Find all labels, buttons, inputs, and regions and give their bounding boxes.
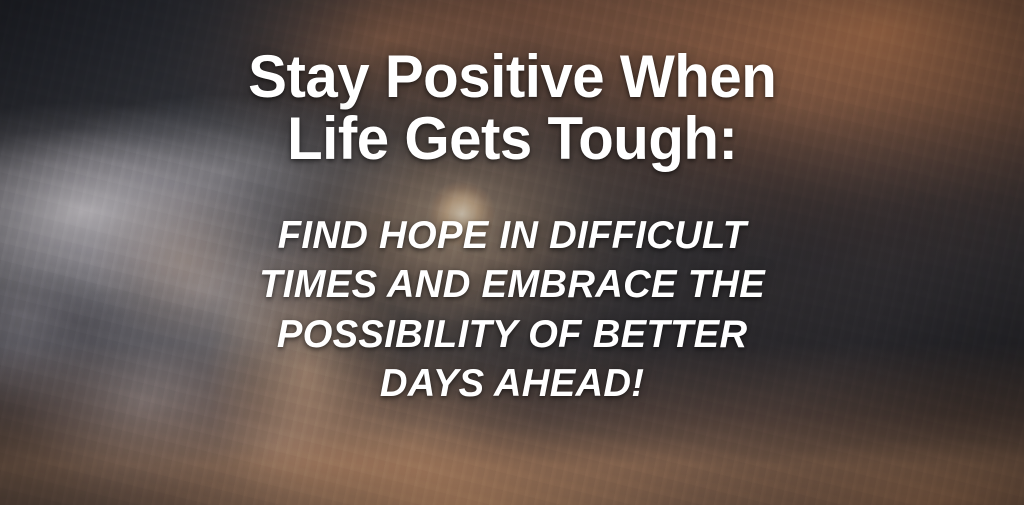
subtitle-line-1: FIND HOPE IN DIFFICULT [259,211,765,261]
page-title: Stay Positive When Life Gets Tough: [248,0,776,171]
subtitle: FIND HOPE IN DIFFICULT TIMES AND EMBRACE… [259,171,765,409]
headline-line-1: Stay Positive When [248,46,776,108]
subtitle-line-2: TIMES AND EMBRACE THE [259,260,765,310]
headline-line-2: Life Gets Tough: [248,108,776,170]
poster-text-block: Stay Positive When Life Gets Tough: FIND… [0,0,1024,505]
subtitle-line-4: DAYS AHEAD! [259,359,765,409]
subtitle-line-3: POSSIBILITY OF BETTER [259,310,765,360]
motivational-quote-poster: Stay Positive When Life Gets Tough: FIND… [0,0,1024,505]
